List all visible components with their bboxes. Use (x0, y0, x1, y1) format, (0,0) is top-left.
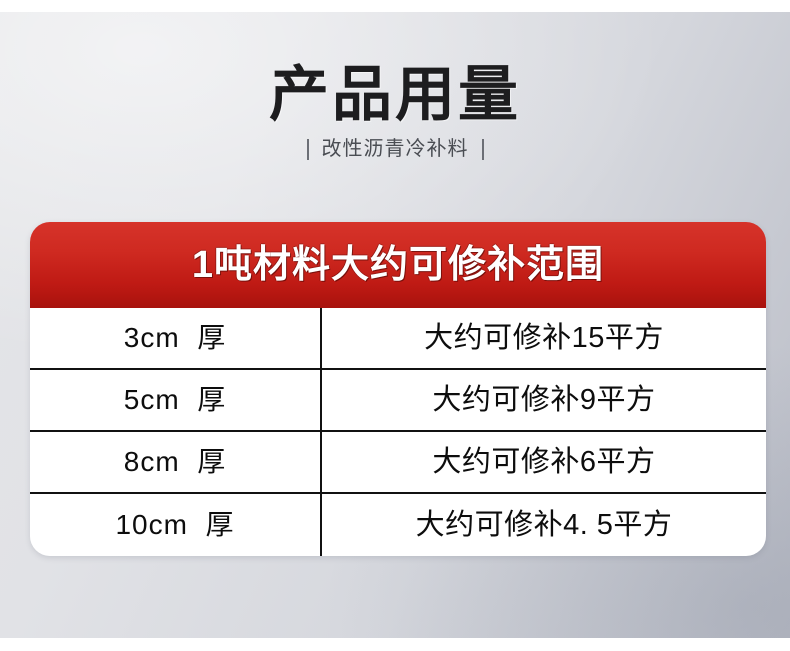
table-row: 10cm 厚 大约可修补4. 5平方 (30, 494, 766, 556)
coverage-table-header: 1吨材料大约可修补范围 (30, 222, 766, 308)
table-cell-thickness: 10cm 厚 (30, 494, 322, 556)
thickness-value: 5cm 厚 (124, 384, 226, 416)
heading-block: 产品用量 改性沥青冷补料 (0, 62, 790, 160)
coverage-table-card: 1吨材料大约可修补范围 3cm 厚 大约可修补15平方 5cm 厚 大约可修补9… (30, 222, 766, 556)
subtitle-row: 改性沥青冷补料 (0, 138, 790, 160)
vertical-bar-right-icon (482, 139, 484, 160)
coverage-value: 大约可修补4. 5平方 (416, 509, 673, 541)
vertical-bar-left-icon (307, 139, 309, 160)
coverage-value: 大约可修补9平方 (432, 384, 655, 416)
thickness-value: 8cm 厚 (124, 446, 226, 478)
coverage-value: 大约可修补6平方 (432, 446, 655, 478)
thickness-value: 3cm 厚 (124, 322, 226, 354)
page-subtitle: 改性沥青冷补料 (322, 138, 469, 160)
coverage-value: 大约可修补15平方 (424, 322, 664, 354)
page-title: 产品用量 (0, 62, 790, 128)
table-cell-coverage: 大约可修补4. 5平方 (322, 494, 766, 556)
table-row: 3cm 厚 大约可修补15平方 (30, 308, 766, 370)
coverage-table-header-title: 1吨材料大约可修补范围 (192, 244, 604, 286)
table-cell-thickness: 8cm 厚 (30, 432, 322, 492)
table-row: 5cm 厚 大约可修补9平方 (30, 370, 766, 432)
table-cell-coverage: 大约可修补15平方 (322, 308, 766, 368)
coverage-table-body: 3cm 厚 大约可修补15平方 5cm 厚 大约可修补9平方 8cm 厚 (30, 308, 766, 556)
table-row: 8cm 厚 大约可修补6平方 (30, 432, 766, 494)
table-cell-thickness: 5cm 厚 (30, 370, 322, 430)
product-usage-infographic: 产品用量 改性沥青冷补料 1吨材料大约可修补范围 3cm 厚 大约可修补15平方 (0, 0, 790, 651)
thickness-value: 10cm 厚 (115, 509, 234, 541)
table-cell-thickness: 3cm 厚 (30, 308, 322, 368)
table-cell-coverage: 大约可修补9平方 (322, 370, 766, 430)
table-cell-coverage: 大约可修补6平方 (322, 432, 766, 492)
